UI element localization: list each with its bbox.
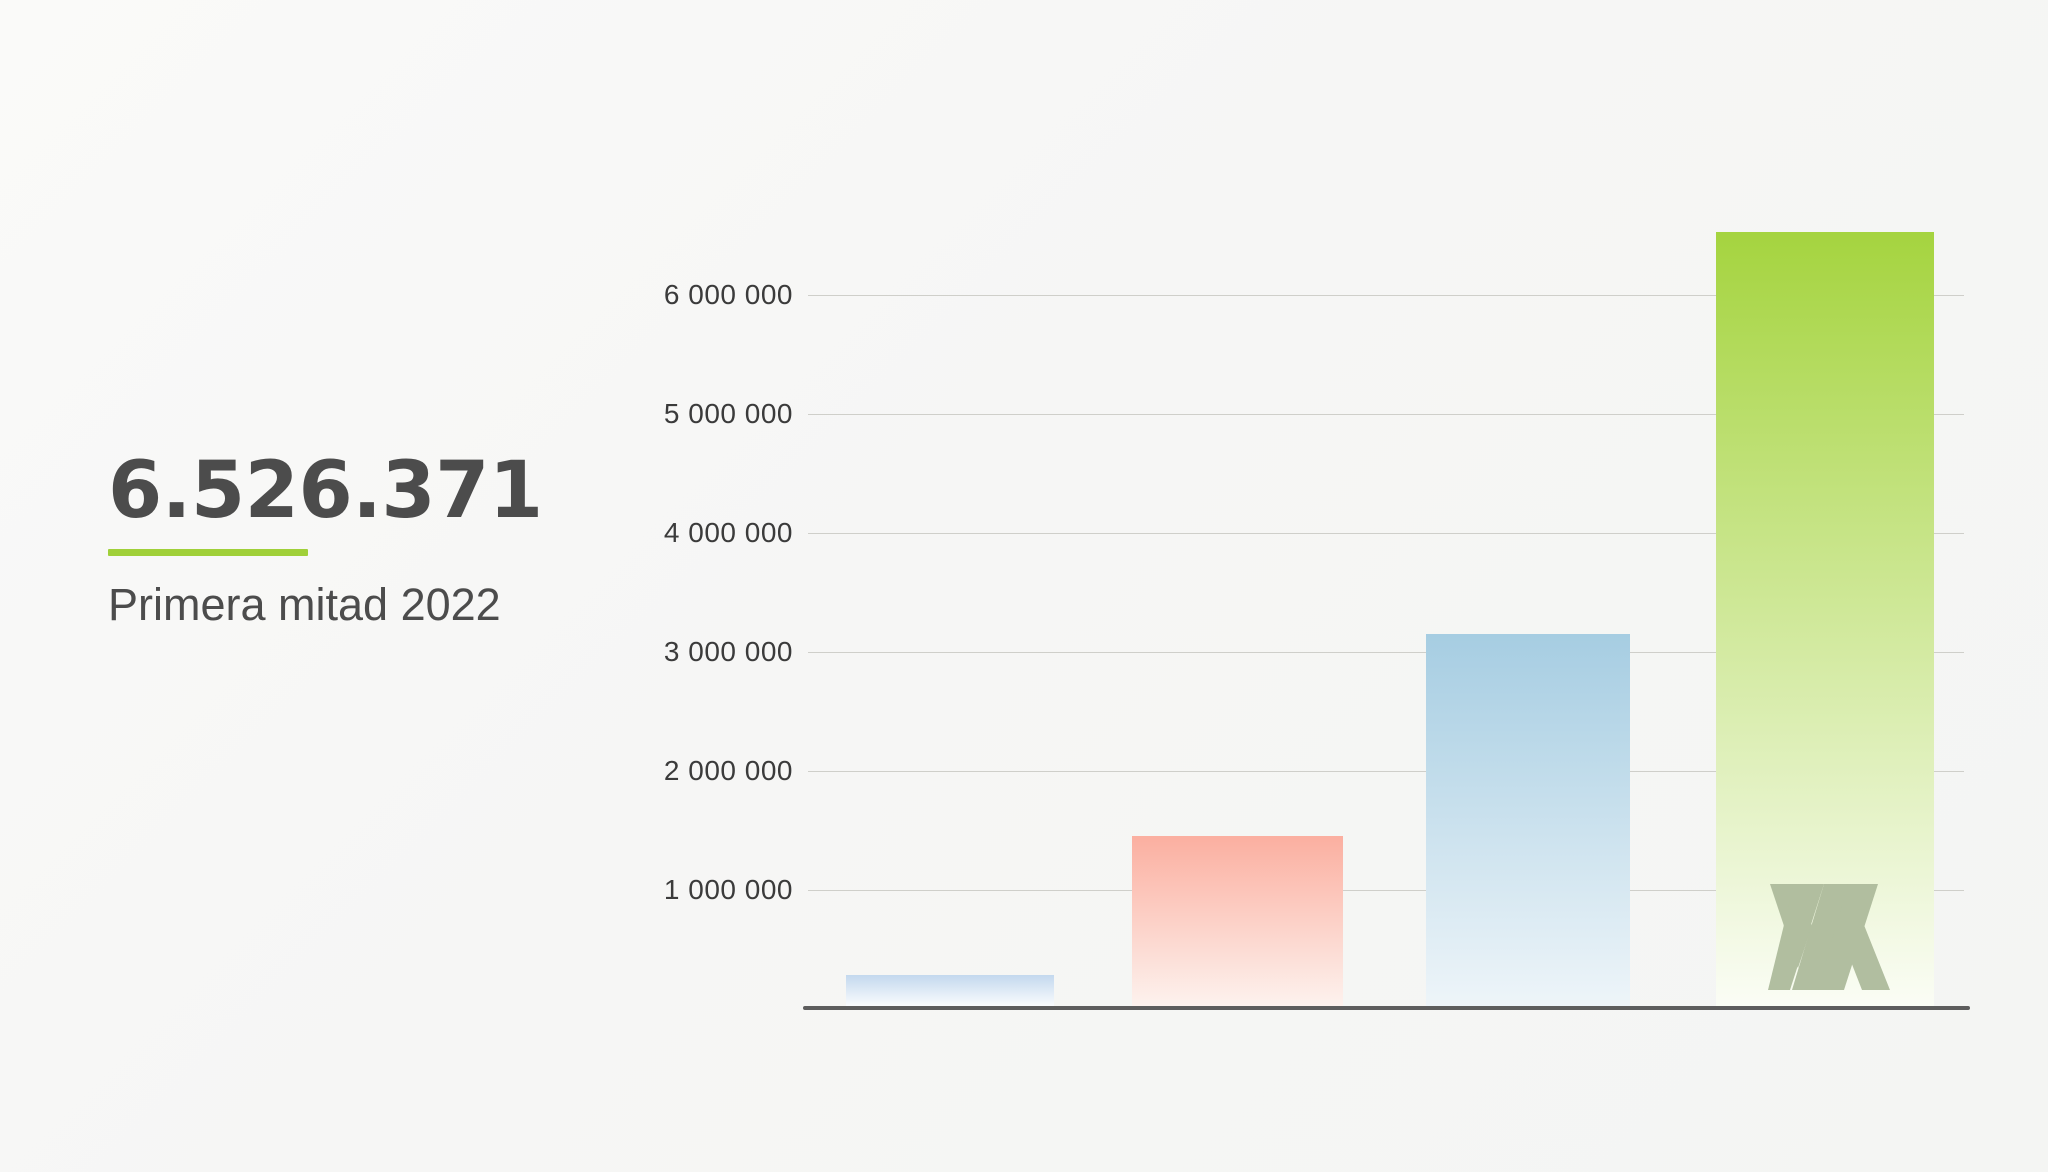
x-axis-baseline: [803, 1006, 1970, 1010]
y-axis-tick-label: 6 000 000: [664, 279, 793, 311]
bar-fill: [846, 975, 1054, 1010]
bar: [1132, 836, 1343, 1009]
company-logo-watermark: [1768, 878, 1892, 996]
bar: [1426, 634, 1630, 1009]
y-axis-tick-label: 3 000 000: [664, 636, 793, 668]
bar-fill: [1132, 836, 1343, 1009]
y-axis-tick-label: 1 000 000: [664, 874, 793, 906]
bar-chart: 1 000 0002 000 0003 000 0004 000 0005 00…: [0, 0, 2048, 1172]
y-axis-tick-label: 2 000 000: [664, 755, 793, 787]
y-axis-tick-label: 4 000 000: [664, 517, 793, 549]
y-axis-tick-label: 5 000 000: [664, 398, 793, 430]
bar-fill: [1426, 634, 1630, 1009]
bar: [846, 975, 1054, 1010]
chart-slide: 6.526.371 Primera mitad 2022 1 000 0002 …: [0, 0, 2048, 1172]
